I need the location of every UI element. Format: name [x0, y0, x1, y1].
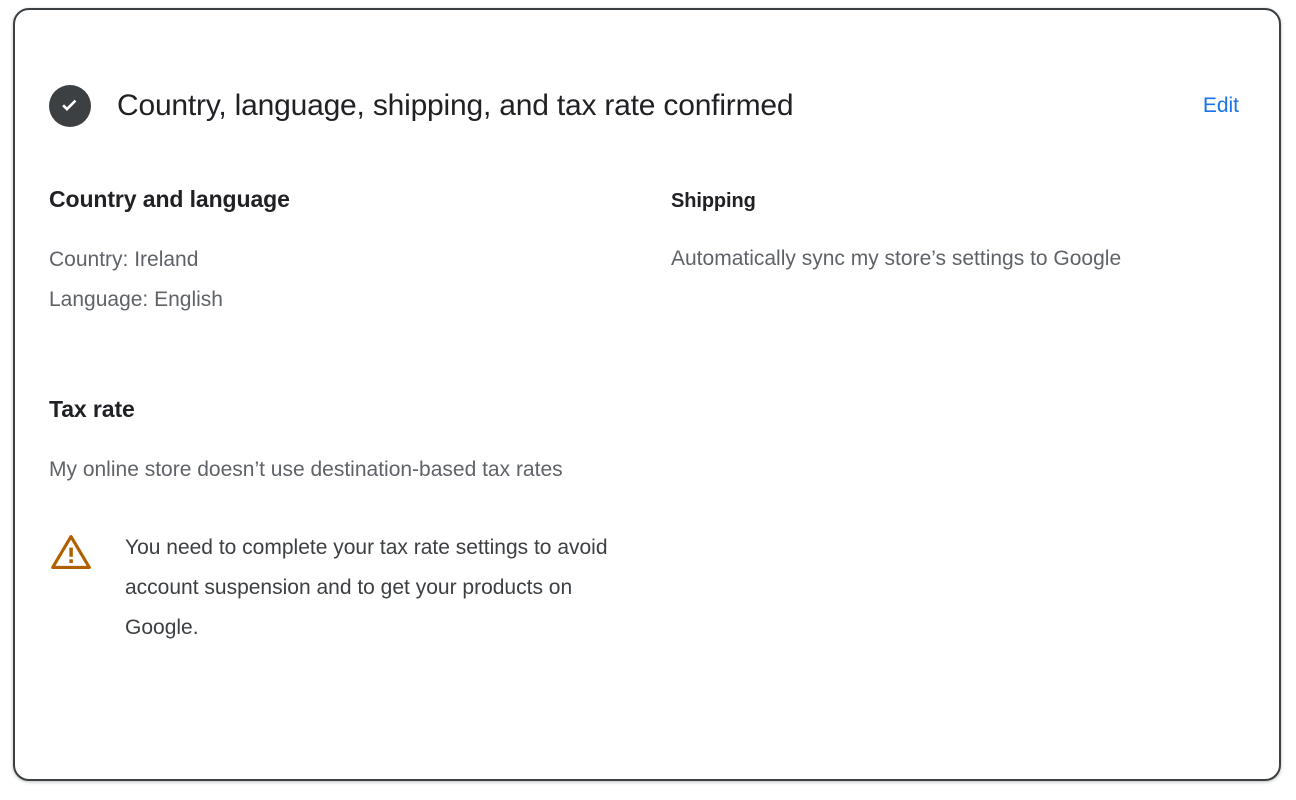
- edit-button[interactable]: Edit: [1203, 93, 1239, 119]
- screen-root: Country, language, shipping, and tax rat…: [0, 0, 1296, 800]
- country-language-heading: Country and language: [49, 184, 671, 214]
- country-value: Country: Ireland: [49, 240, 671, 280]
- warning-message: You need to complete your tax rate setti…: [125, 528, 625, 648]
- country-language-section: Country and language Country: Ireland La…: [49, 184, 671, 320]
- confirmation-card: Country, language, shipping, and tax rat…: [13, 8, 1281, 781]
- tax-rate-section: Tax rate My online store doesn’t use des…: [49, 394, 1245, 648]
- tax-rate-description: My online store doesn’t use destination-…: [49, 450, 569, 490]
- check-circle-icon: [49, 85, 91, 127]
- page-title: Country, language, shipping, and tax rat…: [117, 87, 793, 125]
- card-content: Country, language, shipping, and tax rat…: [15, 10, 1279, 779]
- tax-rate-heading: Tax rate: [49, 394, 1245, 424]
- shipping-section: Shipping Automatically sync my store’s s…: [671, 184, 1245, 320]
- tax-rate-warning: You need to complete your tax rate setti…: [49, 528, 1245, 648]
- shipping-heading: Shipping: [671, 188, 1245, 214]
- card-header: Country, language, shipping, and tax rat…: [49, 80, 1245, 132]
- language-value: Language: English: [49, 280, 671, 320]
- details-columns: Country and language Country: Ireland La…: [49, 184, 1245, 320]
- warning-triangle-icon: [49, 530, 93, 574]
- shipping-description: Automatically sync my store’s settings t…: [671, 238, 1201, 279]
